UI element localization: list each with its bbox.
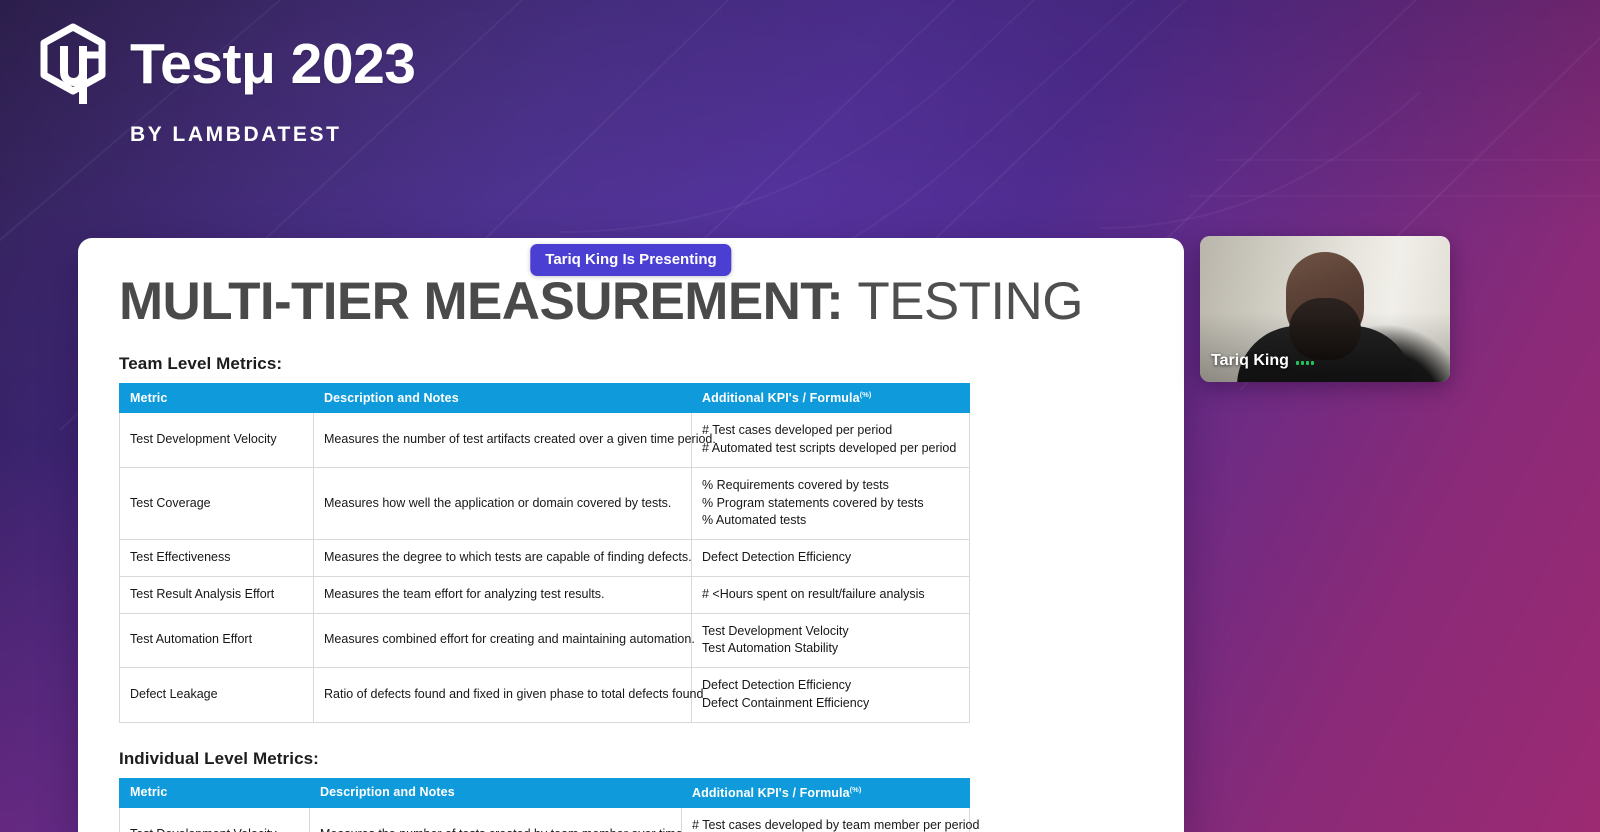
cell-metric: Defect Leakage [120,668,314,723]
table-row: Test Effectiveness Measures the degree t… [120,540,970,577]
cell-kpi: Test Development Velocity Test Automatio… [692,613,970,668]
cell-kpi: Defect Detection Efficiency Defect Conta… [692,668,970,723]
column-header-description: Description and Notes [314,384,692,413]
cell-metric: Test Effectiveness [120,540,314,577]
cell-kpi: % Requirements covered by tests % Progra… [692,467,970,539]
slide-title-light: TESTING [857,272,1082,331]
table-row: Defect Leakage Ratio of defects found an… [120,668,970,723]
cell-description: Measures the degree to which tests are c… [314,540,692,577]
column-header-kpi-label: Additional KPI's / Formula [702,391,860,405]
kpi-line: # Test cases developed by team member pe… [692,817,959,832]
audio-level-icon [1296,357,1314,365]
kpi-line: Defect Containment Efficiency [702,695,959,713]
individual-metrics-heading: Individual Level Metrics: [119,749,1144,769]
slide-title: MULTI-TIER MEASUREMENT: TESTING [119,274,1144,329]
testmu-hexagon-mu-logo-icon [34,22,112,106]
column-header-kpi: Additional KPI's / Formula(%) [682,778,970,807]
table-row: Test Development Velocity Measures the n… [120,413,970,468]
kpi-line: Test Automation Stability [702,640,959,658]
column-header-kpi-superscript: (%) [850,785,862,794]
cell-metric: Test Development Velocity [120,413,314,468]
kpi-line: % Requirements covered by tests [702,477,959,495]
table-row: Test Automation Effort Measures combined… [120,613,970,668]
shared-slide-panel[interactable]: Tariq King Is Presenting MULTI-TIER MEAS… [78,238,1184,832]
kpi-line: Test Development Velocity [702,623,959,641]
meeting-stage: Testμ 2023 BY LAMBDATEST Tariq King Is P… [0,0,1600,832]
cell-metric: Test Result Analysis Effort [120,576,314,613]
participant-name: Tariq King [1211,352,1289,370]
kpi-line: # <Hours spent on result/failure analysi… [702,586,959,604]
kpi-line: % Automated tests [702,512,959,530]
team-metrics-table-head: Metric Description and Notes Additional … [120,384,970,413]
cell-kpi: # Test cases developed by team member pe… [682,807,970,832]
kpi-line: Defect Detection Efficiency [702,549,959,567]
column-header-kpi-label: Additional KPI's / Formula [692,786,850,800]
brand-title: Testμ 2023 [130,36,415,93]
cell-description: Measures the number of test artifacts cr… [314,413,692,468]
team-metrics-table: Metric Description and Notes Additional … [119,383,970,722]
kpi-line: % Program statements covered by tests [702,495,959,513]
kpi-line: # Test cases developed per period [702,422,959,440]
brand-row: Testμ 2023 [34,22,415,106]
column-header-kpi: Additional KPI's / Formula(%) [692,384,970,413]
table-row: Test Development Velocity Measures the n… [120,807,970,832]
table-row: Test Coverage Measures how well the appl… [120,467,970,539]
cell-metric: Test Automation Effort [120,613,314,668]
column-header-metric: Metric [120,778,310,807]
column-header-description: Description and Notes [310,778,682,807]
presenter-status-badge: Tariq King Is Presenting [530,244,731,276]
kpi-line: # Automated test scripts developed per p… [702,440,959,458]
team-metrics-table-body: Test Development Velocity Measures the n… [120,413,970,722]
team-metrics-heading: Team Level Metrics: [119,354,1144,374]
cell-kpi: Defect Detection Efficiency [692,540,970,577]
table-header-row: Metric Description and Notes Additional … [120,778,970,807]
participant-video-tile[interactable]: Tariq King [1200,236,1450,382]
brand-lockup: Testμ 2023 BY LAMBDATEST [34,22,415,147]
individual-metrics-table-body: Test Development Velocity Measures the n… [120,807,970,832]
column-header-metric: Metric [120,384,314,413]
cell-description: Measures combined effort for creating an… [314,613,692,668]
cell-description: Measures the team effort for analyzing t… [314,576,692,613]
cell-kpi: # <Hours spent on result/failure analysi… [692,576,970,613]
slide-content: MULTI-TIER MEASUREMENT: TESTING Team Lev… [78,238,1184,832]
individual-metrics-table-head: Metric Description and Notes Additional … [120,778,970,807]
cell-metric: Test Development Velocity [120,807,310,832]
participant-nameplate: Tariq King [1211,352,1314,370]
table-header-row: Metric Description and Notes Additional … [120,384,970,413]
brand-subtitle: BY LAMBDATEST [130,123,415,147]
cell-description: Ratio of defects found and fixed in give… [314,668,692,723]
cell-kpi: # Test cases developed per period # Auto… [692,413,970,468]
cell-description: Measures how well the application or dom… [314,467,692,539]
table-row: Test Result Analysis Effort Measures the… [120,576,970,613]
column-header-kpi-superscript: (%) [860,390,872,399]
individual-metrics-table: Metric Description and Notes Additional … [119,778,970,832]
cell-metric: Test Coverage [120,467,314,539]
slide-title-strong: MULTI-TIER MEASUREMENT: [119,272,843,331]
cell-description: Measures the number of tests created by … [310,807,682,832]
kpi-line: Defect Detection Efficiency [702,677,959,695]
